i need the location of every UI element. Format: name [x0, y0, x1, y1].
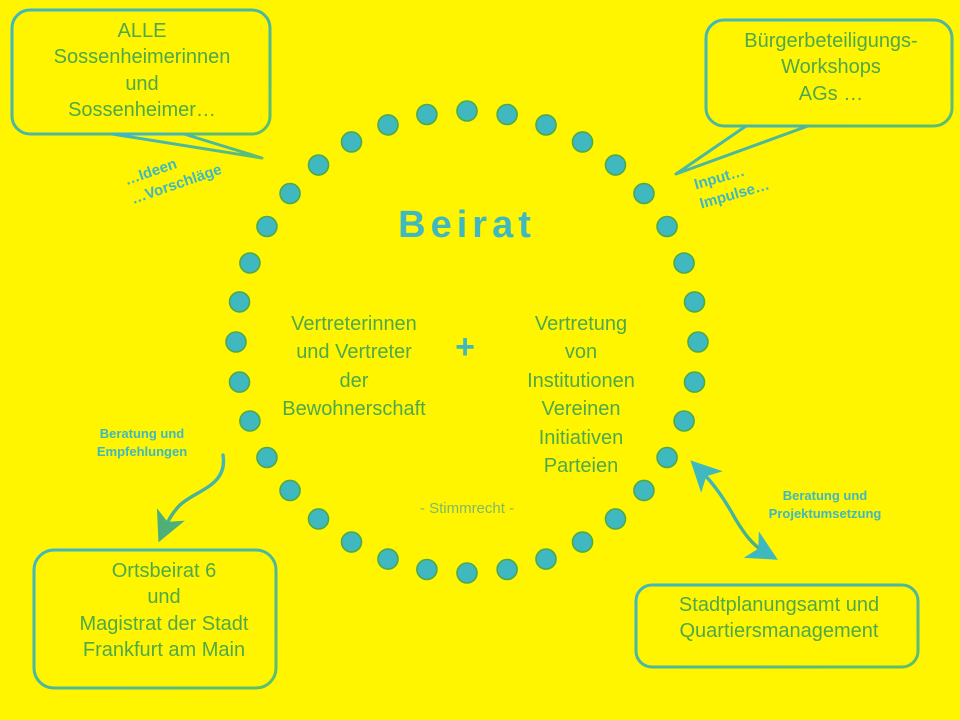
- arrow-beratung-empfehlungen: [164, 455, 224, 530]
- box-body-bottom-right: [636, 585, 918, 667]
- annotation-beratung-empfehlungen: Beratung und Empfehlungen: [72, 425, 212, 460]
- box-ortsbeirat[interactable]: [34, 550, 276, 688]
- ring-dot: [674, 253, 694, 273]
- annotation-beratung-projektumsetzung: Beratung und Projektumsetzung: [742, 487, 908, 522]
- ring-dot: [684, 372, 704, 392]
- ring-dot: [634, 480, 654, 500]
- center-left-column: Vertreterinnen und Vertreter der Bewohne…: [256, 310, 452, 424]
- ring-dot: [536, 115, 556, 135]
- bubble-body-top-left: [12, 10, 270, 134]
- bubble-body-top-right: [706, 20, 952, 126]
- speech-bubble-buergerbeteiligung[interactable]: [676, 20, 952, 174]
- ring-dot: [684, 292, 704, 312]
- ring-dot: [497, 105, 517, 125]
- ring-dot: [378, 115, 398, 135]
- ring-dot: [657, 217, 677, 237]
- ring-dot: [230, 292, 250, 312]
- page-title: Beirat: [307, 204, 627, 247]
- ring-dot: [280, 480, 300, 500]
- diagram-canvas: ALLE Sossenheimerinnen und Sossenheimer……: [0, 0, 960, 720]
- ring-dot: [457, 101, 477, 121]
- center-right-column: Vertretung von Institutionen Vereinen In…: [486, 310, 676, 480]
- ring-dot: [417, 559, 437, 579]
- ring-dot: [573, 132, 593, 152]
- ring-dot: [497, 559, 517, 579]
- ring-dot: [257, 448, 277, 468]
- ring-dot: [536, 549, 556, 569]
- ring-dot: [378, 549, 398, 569]
- ring-dot: [605, 155, 625, 175]
- ring-dot: [634, 184, 654, 204]
- ring-dot: [417, 105, 437, 125]
- ring-dot: [230, 372, 250, 392]
- plus-operator: +: [447, 330, 483, 364]
- ring-dot: [674, 411, 694, 431]
- ring-dot: [573, 532, 593, 552]
- box-stadtplanungsamt[interactable]: [636, 585, 918, 667]
- ring-dot: [280, 184, 300, 204]
- box-body-bottom-left: [34, 550, 276, 688]
- ring-dot: [457, 563, 477, 583]
- ring-dot: [309, 155, 329, 175]
- ring-dot: [257, 217, 277, 237]
- ring-dot: [688, 332, 708, 352]
- ring-dot: [342, 132, 362, 152]
- ring-dot: [226, 332, 246, 352]
- ring-dot: [605, 509, 625, 529]
- ring-dot: [309, 509, 329, 529]
- ring-dot: [342, 532, 362, 552]
- stimmrecht-footnote: - Stimmrecht -: [367, 500, 567, 517]
- ring-dot: [240, 253, 260, 273]
